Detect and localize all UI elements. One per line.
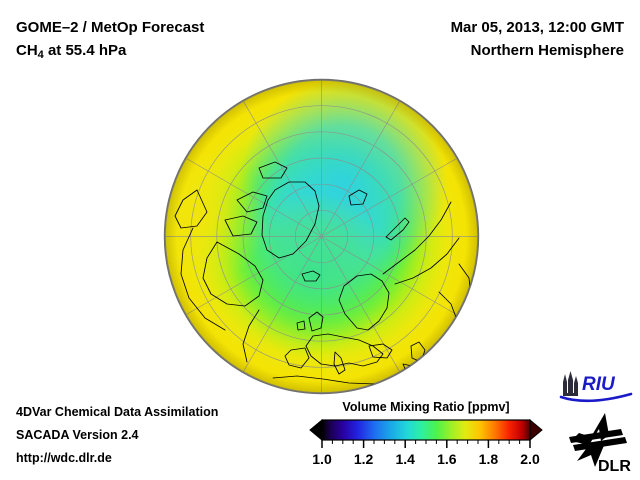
figure-title: GOME–2 / MetOp Forecast	[16, 16, 204, 39]
colorbar-tick-label: 1.2	[354, 451, 374, 467]
pressure-level-label: at 55.4 hPa	[44, 42, 127, 59]
orthographic-projection-svg	[163, 78, 480, 395]
colorbar-tick-label: 1.4	[395, 451, 415, 467]
credit-url[interactable]: http://wdc.dlr.de	[16, 447, 218, 470]
riu-logo: RIU	[558, 369, 634, 405]
limb-shading	[165, 80, 479, 394]
figure-subtitle-species: CH4 at 55.4 hPa	[16, 39, 204, 67]
timestamp-label: Mar 05, 2013, 12:00 GMT	[451, 16, 624, 39]
riu-logo-svg: RIU	[558, 369, 634, 405]
coastline-arabia	[403, 364, 439, 395]
colorbar-title: Volume Mixing Ratio [ppmv]	[308, 400, 544, 414]
header-right: Mar 05, 2013, 12:00 GMT Northern Hemisph…	[451, 16, 624, 62]
colorbar-cap-high	[530, 420, 542, 440]
colorbar-tick-labels: 1.01.21.41.61.82.0	[312, 451, 540, 467]
region-label: Northern Hemisphere	[451, 39, 624, 62]
dlr-logo-svg: DLR	[565, 411, 635, 475]
credit-version: SACADA Version 2.4	[16, 424, 218, 447]
coastline-red-sea	[401, 380, 419, 395]
colorbar-tick-label: 2.0	[520, 451, 540, 467]
figure-canvas: GOME–2 / MetOp Forecast CH4 at 55.4 hPa …	[0, 0, 640, 480]
colorbar-ticks	[322, 440, 530, 448]
credit-method: 4DVar Chemical Data Assimilation	[16, 401, 218, 424]
header-left: GOME–2 / MetOp Forecast CH4 at 55.4 hPa	[16, 16, 204, 67]
colorbar-tick-label: 1.6	[437, 451, 457, 467]
globe-map	[163, 78, 480, 395]
colorbar-tick-label: 1.0	[312, 451, 332, 467]
species-label: CH	[16, 42, 38, 59]
dlr-logo: DLR	[565, 411, 635, 475]
colorbar-svg: 1.01.21.41.61.82.0	[308, 419, 544, 471]
footer-credits: 4DVar Chemical Data Assimilation SACADA …	[16, 401, 218, 470]
dlr-wordmark: DLR	[598, 458, 631, 475]
riu-wordmark: RIU	[582, 374, 616, 395]
colorbar: Volume Mixing Ratio [ppmv] 1.01.21.41.61…	[308, 400, 544, 471]
colorbar-tick-label: 1.8	[479, 451, 499, 467]
riu-tower-icon	[563, 371, 578, 396]
colorbar-cap-low	[310, 420, 322, 440]
colorbar-gradient-bar	[322, 420, 530, 440]
